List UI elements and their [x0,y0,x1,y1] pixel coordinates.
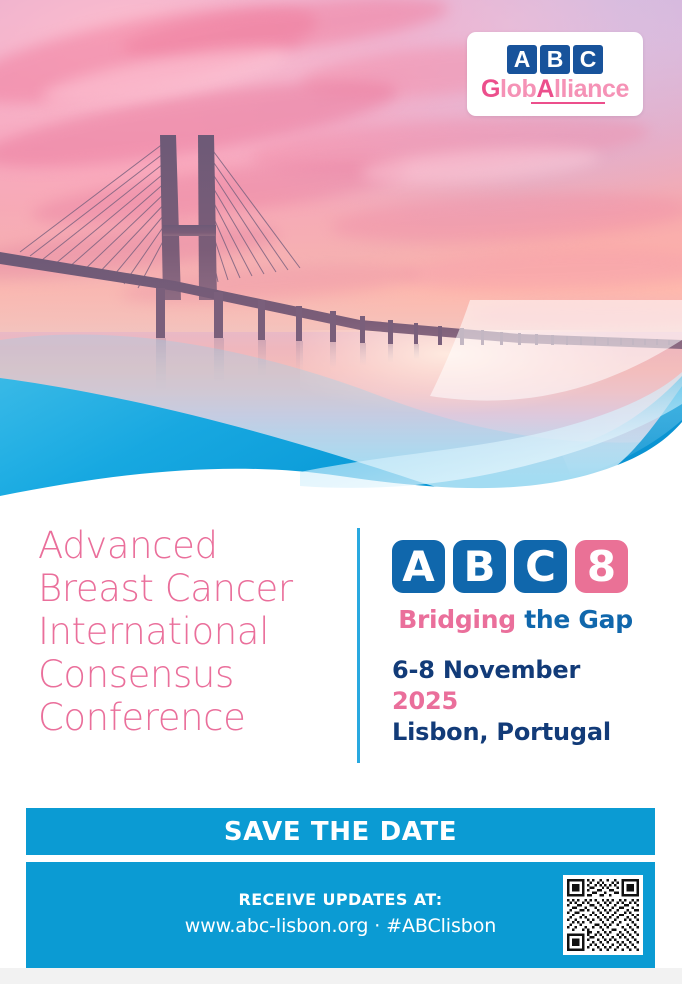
event-date-row: 6-8 November 2025 [392,655,652,717]
qr-code-icon[interactable] [563,875,643,955]
alliance-underline [531,102,605,105]
title-line-2: Breast Cancer [38,567,338,610]
abc8-logo: A B C 8 [392,540,652,593]
event-dates-location: 6-8 November 2025 Lisbon, Portugal [392,655,652,748]
conference-title: Advanced Breast Cancer International Con… [38,524,338,739]
alliance-box-c: C [573,45,603,74]
alliance-word-g: G [481,75,500,103]
vertical-divider [357,528,360,763]
title-line-5: Conference [38,696,338,739]
updates-banner: RECEIVE UPDATES AT: www.abc-lisbon.org ·… [26,862,655,968]
alliance-wordmark: GlobAlliance [481,76,629,103]
alliance-box-b: B [540,45,570,74]
tagline-the-gap: the Gap [516,605,633,634]
event-identity-block: A B C 8 Bridging the Gap 6-8 November 20… [392,540,652,748]
page-background-strip [0,968,682,984]
tagline-bridging: Bridging [398,605,516,634]
abc8-box-c: C [514,540,567,593]
event-location: Lisbon, Portugal [392,717,652,748]
hero-image: A B C GlobAlliance [0,0,682,500]
save-the-date-banner: SAVE THE DATE [26,808,655,855]
alliance-box-a: A [507,45,537,74]
blue-wave-graphic [0,300,682,500]
title-line-1: Advanced [38,524,338,567]
updates-links: www.abc-lisbon.org · #ABClisbon [26,912,655,940]
alliance-word-lliance: lliance [554,75,629,103]
alliance-letter-boxes: A B C [507,45,603,74]
updates-heading: RECEIVE UPDATES AT: [26,888,655,912]
abc8-box-8: 8 [575,540,628,593]
abc8-box-b: B [453,540,506,593]
abc-global-alliance-logo: A B C GlobAlliance [467,32,643,116]
event-dates: 6-8 November [392,656,580,684]
title-line-4: Consensus [38,653,338,696]
event-tagline: Bridging the Gap [392,605,639,634]
qr-code-matrix [567,879,639,951]
event-year: 2025 [392,687,458,715]
title-line-3: International [38,610,338,653]
save-the-date-label: SAVE THE DATE [224,817,457,847]
alliance-word-lob: lob [500,75,536,103]
updates-text: RECEIVE UPDATES AT: www.abc-lisbon.org ·… [26,888,655,940]
conference-save-the-date-poster: A B C GlobAlliance Advanced Breast Cance… [0,0,682,984]
alliance-word-a: A [536,75,554,103]
abc8-box-a: A [392,540,445,593]
